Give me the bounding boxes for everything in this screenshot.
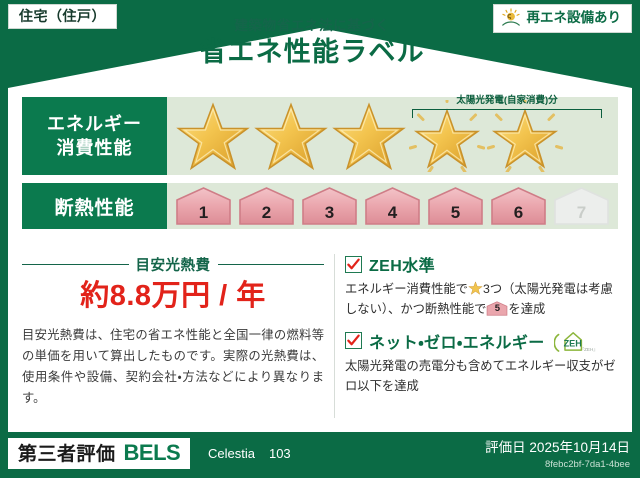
project-number: 103	[269, 446, 291, 461]
insulation-label-text: 断熱性能	[54, 193, 134, 220]
utility-cost-heading-text: 目安光熱費	[136, 254, 211, 275]
insulation-performance-value: 1 2 3 4 5	[167, 183, 618, 229]
insulation-performance-row: 断熱性能 1 2 3 4	[22, 183, 618, 229]
net-zero-energy-title: ネット・ゼロ・エネルギー	[369, 329, 545, 353]
utility-cost-column: 目安光熱費 約8.8万円 / 年 目安光熱費は、住宅の省エネ性能と全国一律の燃料…	[22, 252, 334, 420]
solar-annotation-label: 太陽光発電(自家消費)分	[412, 96, 602, 106]
utility-cost-value: 約8.8万円 / 年	[22, 281, 324, 313]
lower-section: 目安光熱費 約8.8万円 / 年 目安光熱費は、住宅の省エネ性能と全国一律の燃料…	[22, 252, 618, 420]
insulation-grade-label: 4	[364, 186, 421, 226]
insulation-grade-2: 2	[238, 186, 295, 226]
performance-rows: エネルギー 消費性能 太陽光発電(自家消費)分	[22, 97, 618, 237]
heading-rule-right	[218, 264, 325, 266]
net-zero-energy-claim: ネット・ゼロ・エネルギー ZEH 『ZEH』 太陽光発電の売電分も含めてエネルギ…	[345, 329, 618, 397]
insulation-grade-5: 5	[427, 186, 484, 226]
energy-label-line2: 消費性能	[57, 136, 133, 160]
solar-annotation: 太陽光発電(自家消費)分	[412, 96, 602, 118]
insulation-grade-7: 7	[553, 186, 610, 226]
insulation-grade-1: 1	[175, 186, 232, 226]
star-icon-inline	[468, 281, 483, 295]
inline-grade-label: 5	[486, 301, 508, 316]
energy-performance-label: エネルギー 消費性能	[22, 97, 167, 175]
zeh-standard-claim: ZEH水準 エネルギー消費性能で3つ（太陽光発電は考慮しない）、かつ断熱性能で5…	[345, 252, 618, 320]
star-icon	[331, 100, 407, 172]
evaluation-id: 8febc2bf-7da1-4bee	[485, 459, 630, 470]
zeh-body-part1: エネルギー消費性能で	[345, 282, 468, 296]
zeh-standard-body: エネルギー消費性能で3つ（太陽光発電は考慮しない）、かつ断熱性能で5を達成	[345, 279, 618, 320]
zeh-body-part3: を達成	[508, 302, 545, 316]
net-zero-energy-body: 太陽光発電の売電分も含めてエネルギー収支がゼロ以下を達成	[345, 356, 618, 397]
sun-solar-icon	[500, 8, 522, 28]
project-info: Celestia 103	[208, 446, 291, 461]
star-icon	[253, 100, 329, 172]
insulation-grade-scale: 1 2 3 4 5	[167, 183, 618, 229]
bels-certification-mark: 第三者評価 BELS	[8, 438, 190, 469]
housing-type-tag: 住宅（住戸）	[8, 4, 117, 29]
top-badge-bar: 住宅（住戸） 再エネ設備あり	[0, 0, 640, 34]
house-badge-icon-inline: 5	[486, 301, 508, 316]
net-zero-energy-heading: ネット・ゼロ・エネルギー ZEH 『ZEH』	[345, 329, 618, 353]
renewable-equipment-badge: 再エネ設備あり	[493, 4, 633, 33]
renewable-badge-label: 再エネ設備あり	[527, 11, 622, 25]
zeh-house-logo: ZEH 『ZEH』	[554, 329, 596, 353]
insulation-grade-3: 3	[301, 186, 358, 226]
evaluation-info: 評価日 2025年10月14日 8febc2bf-7da1-4bee	[485, 440, 630, 471]
star-icon	[175, 100, 251, 172]
evaluation-date: 評価日 2025年10月14日	[485, 440, 630, 456]
solar-annotation-bracket	[412, 109, 602, 118]
insulation-grade-label: 7	[553, 186, 610, 226]
insulation-grade-label: 6	[490, 186, 547, 226]
energy-performance-value: 太陽光発電(自家消費)分	[167, 97, 618, 175]
utility-cost-description: 目安光熱費は、住宅の省エネ性能と全国一律の燃料等の単価を用いて算出したものです。…	[22, 325, 324, 410]
certification-column: ZEH水準 エネルギー消費性能で3つ（太陽光発電は考慮しない）、かつ断熱性能で5…	[345, 252, 618, 420]
check-icon	[345, 256, 362, 273]
column-divider	[334, 254, 335, 418]
footer-bar: 第三者評価 BELS Celestia 103 評価日 2025年10月14日 …	[0, 432, 640, 478]
zeh-standard-heading: ZEH水準	[345, 252, 618, 276]
check-icon	[345, 332, 362, 349]
insulation-grade-4: 4	[364, 186, 421, 226]
insulation-grade-label: 1	[175, 186, 232, 226]
insulation-grade-6: 6	[490, 186, 547, 226]
energy-performance-row: エネルギー 消費性能 太陽光発電(自家消費)分	[22, 97, 618, 175]
insulation-grade-label: 3	[301, 186, 358, 226]
utility-cost-heading: 目安光熱費	[22, 254, 324, 275]
zeh-standard-title: ZEH水準	[369, 252, 435, 276]
insulation-performance-label: 断熱性能	[22, 183, 167, 229]
bels-en-label: BELS	[124, 442, 181, 464]
heading-rule-left	[22, 264, 129, 266]
bels-jp-label: 第三者評価	[18, 445, 116, 464]
page-title: 省エネ性能ラベル	[0, 36, 624, 70]
energy-label-line1: エネルギー	[47, 112, 142, 136]
insulation-grade-label: 5	[427, 186, 484, 226]
project-name: Celestia	[208, 446, 255, 461]
svg-text:『ZEH』: 『ZEH』	[579, 346, 595, 353]
insulation-grade-label: 2	[238, 186, 295, 226]
